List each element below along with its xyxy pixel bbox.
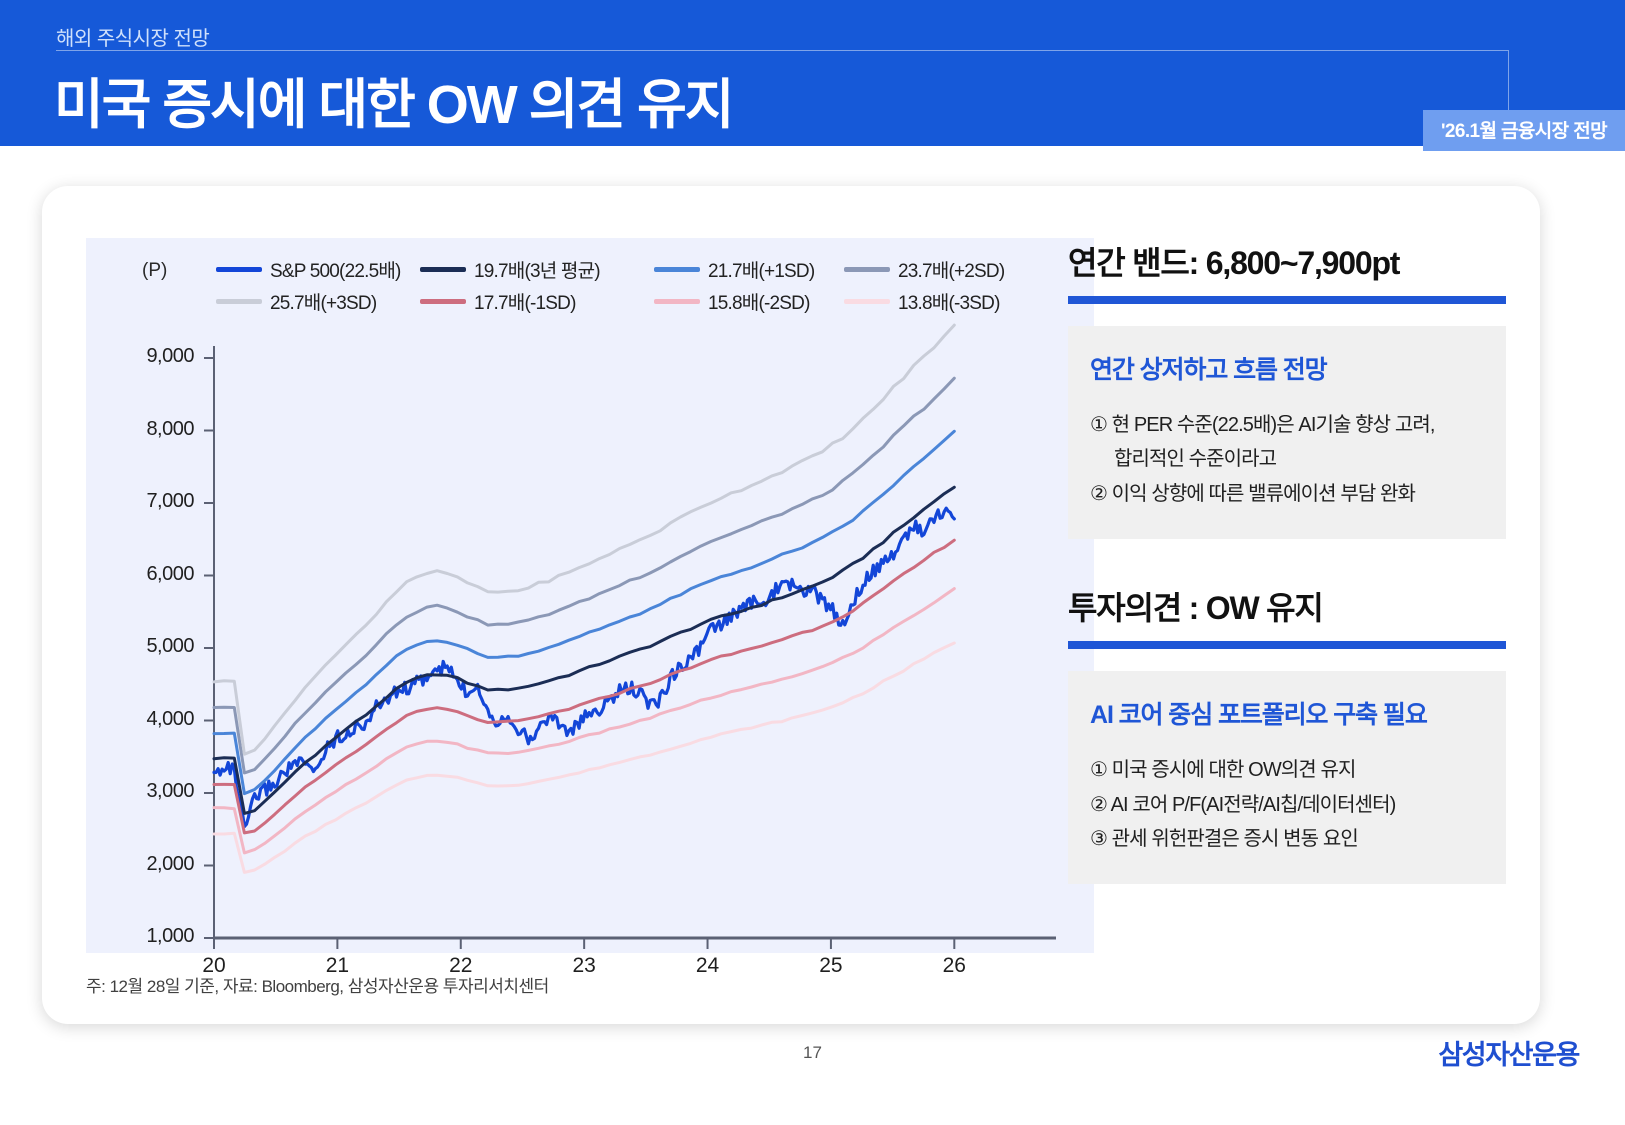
chart-series-1: [214, 487, 954, 813]
brand-logo: 삼성자산운용: [1438, 1033, 1579, 1072]
chart-panel: (P) S&P 500(22.5배)19.7배(3년 평균)21.7배(+1SD…: [86, 238, 1094, 953]
band-box-heading: 연간 상저하고 흐름 전망: [1090, 350, 1484, 386]
opinion-item-2: ② AI 코어 P/F(AI전략/AI칩/데이터센터): [1090, 790, 1484, 820]
page-title: 미국 증시에 대한 OW 의견 유지: [54, 60, 732, 139]
page-header: 해외 주식시장 전망 미국 증시에 대한 OW 의견 유지 '26.1월 금융시…: [0, 0, 1625, 146]
opinion-item-3: ③ 관세 위헌판결은 증시 변동 요인: [1090, 824, 1484, 854]
y-axis-tick-label: 7,000: [112, 490, 194, 513]
opinion-box: AI 코어 중심 포트폴리오 구축 필요 ① 미국 증시에 대한 OW의견 유지…: [1068, 671, 1506, 884]
chart-series-5: [214, 540, 954, 833]
y-axis-tick-label: 3,000: [112, 780, 194, 803]
header-divider: [56, 50, 1508, 51]
chart-series-4: [214, 325, 954, 754]
chart-plot-area: 1,0002,0003,0004,0005,0006,0007,0008,000…: [86, 238, 1094, 953]
band-title: 연간 밴드: 6,800~7,900pt: [1068, 238, 1524, 284]
chart-footnote: 주: 12월 28일 기준, 자료: Bloomberg, 삼성자산운용 투자리…: [86, 972, 549, 997]
x-axis-tick-label: 25: [801, 954, 861, 978]
y-axis-tick-label: 1,000: [112, 925, 194, 948]
y-axis-tick-label: 8,000: [112, 418, 194, 441]
opinion-title: 투자의견 : OW 유지: [1068, 583, 1524, 629]
opinion-title-underline: [1068, 641, 1506, 649]
band-box: 연간 상저하고 흐름 전망 ① 현 PER 수준(22.5배)은 AI기술 향상…: [1068, 326, 1506, 539]
band-title-underline: [1068, 296, 1506, 304]
y-axis-tick-label: 9,000: [112, 345, 194, 368]
band-item-1: ① 현 PER 수준(22.5배)은 AI기술 향상 고려,: [1090, 410, 1484, 440]
y-axis-tick-label: 2,000: [112, 853, 194, 876]
page-number: 17: [0, 1043, 1625, 1063]
x-axis-tick-label: 26: [924, 954, 984, 978]
y-axis-tick-label: 5,000: [112, 635, 194, 658]
band-item-3: ② 이익 상향에 따른 밸류에이션 부담 완화: [1090, 479, 1484, 509]
status-badge: '26.1월 금융시장 전망: [1423, 110, 1625, 151]
y-axis-tick-label: 6,000: [112, 563, 194, 586]
y-axis-tick-label: 4,000: [112, 708, 194, 731]
insights-panel: 연간 밴드: 6,800~7,900pt 연간 상저하고 흐름 전망 ① 현 P…: [1054, 238, 1524, 978]
header-eyebrow: 해외 주식시장 전망: [56, 22, 209, 51]
chart-svg: [86, 238, 1094, 953]
chart-series-2: [214, 431, 954, 793]
opinion-item-1: ① 미국 증시에 대한 OW의견 유지: [1090, 755, 1484, 785]
band-item-2: 합리적인 수준이라고: [1090, 444, 1484, 474]
x-axis-tick-label: 23: [554, 954, 614, 978]
opinion-box-heading: AI 코어 중심 포트폴리오 구축 필요: [1090, 695, 1484, 731]
x-axis-tick-label: 24: [678, 954, 738, 978]
content-card: (P) S&P 500(22.5배)19.7배(3년 평균)21.7배(+1SD…: [42, 186, 1540, 1024]
